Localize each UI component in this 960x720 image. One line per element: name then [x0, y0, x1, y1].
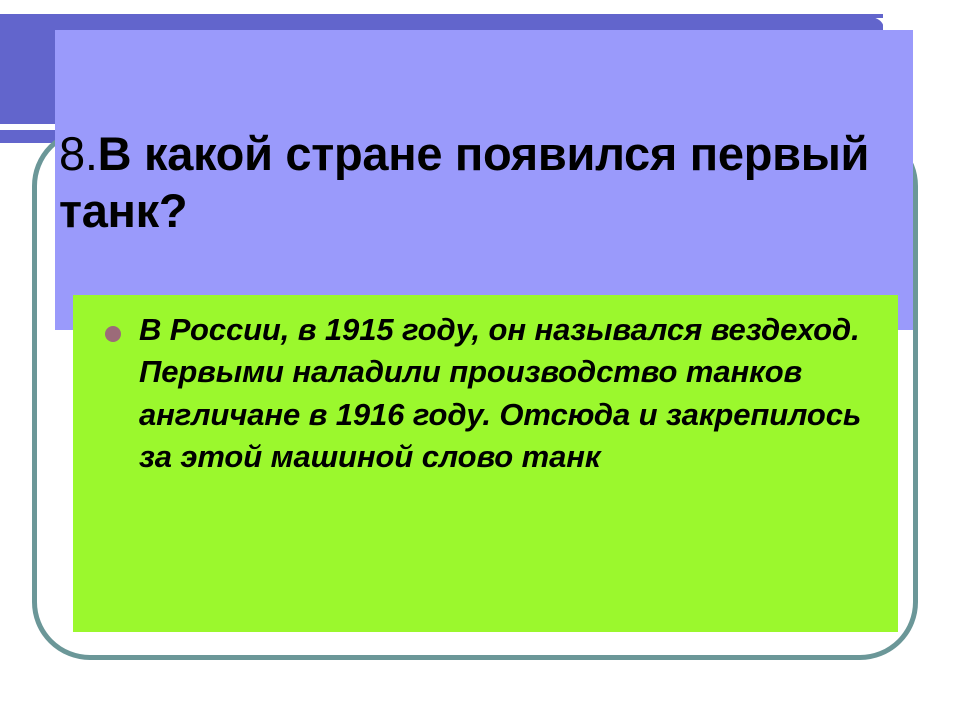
- answer-panel: В России, в 1915 году, он назывался везд…: [73, 295, 898, 632]
- title-body: В какой стране появился первый танк?: [59, 127, 882, 237]
- page-title: 8.В какой стране появился первый танк?: [59, 125, 909, 240]
- list-item-text: В России, в 1915 году, он назывался везд…: [139, 312, 861, 474]
- slide-canvas: 8.В какой стране появился первый танк? В…: [0, 0, 960, 720]
- title-panel: 8.В какой стране появился первый танк?: [55, 30, 913, 330]
- answer-bullet-list: В России, в 1915 году, он назывался везд…: [91, 309, 881, 479]
- list-item: В России, в 1915 году, он назывался везд…: [91, 309, 881, 479]
- bullet-dot-icon: [105, 326, 121, 342]
- question-number: 8.: [59, 127, 98, 180]
